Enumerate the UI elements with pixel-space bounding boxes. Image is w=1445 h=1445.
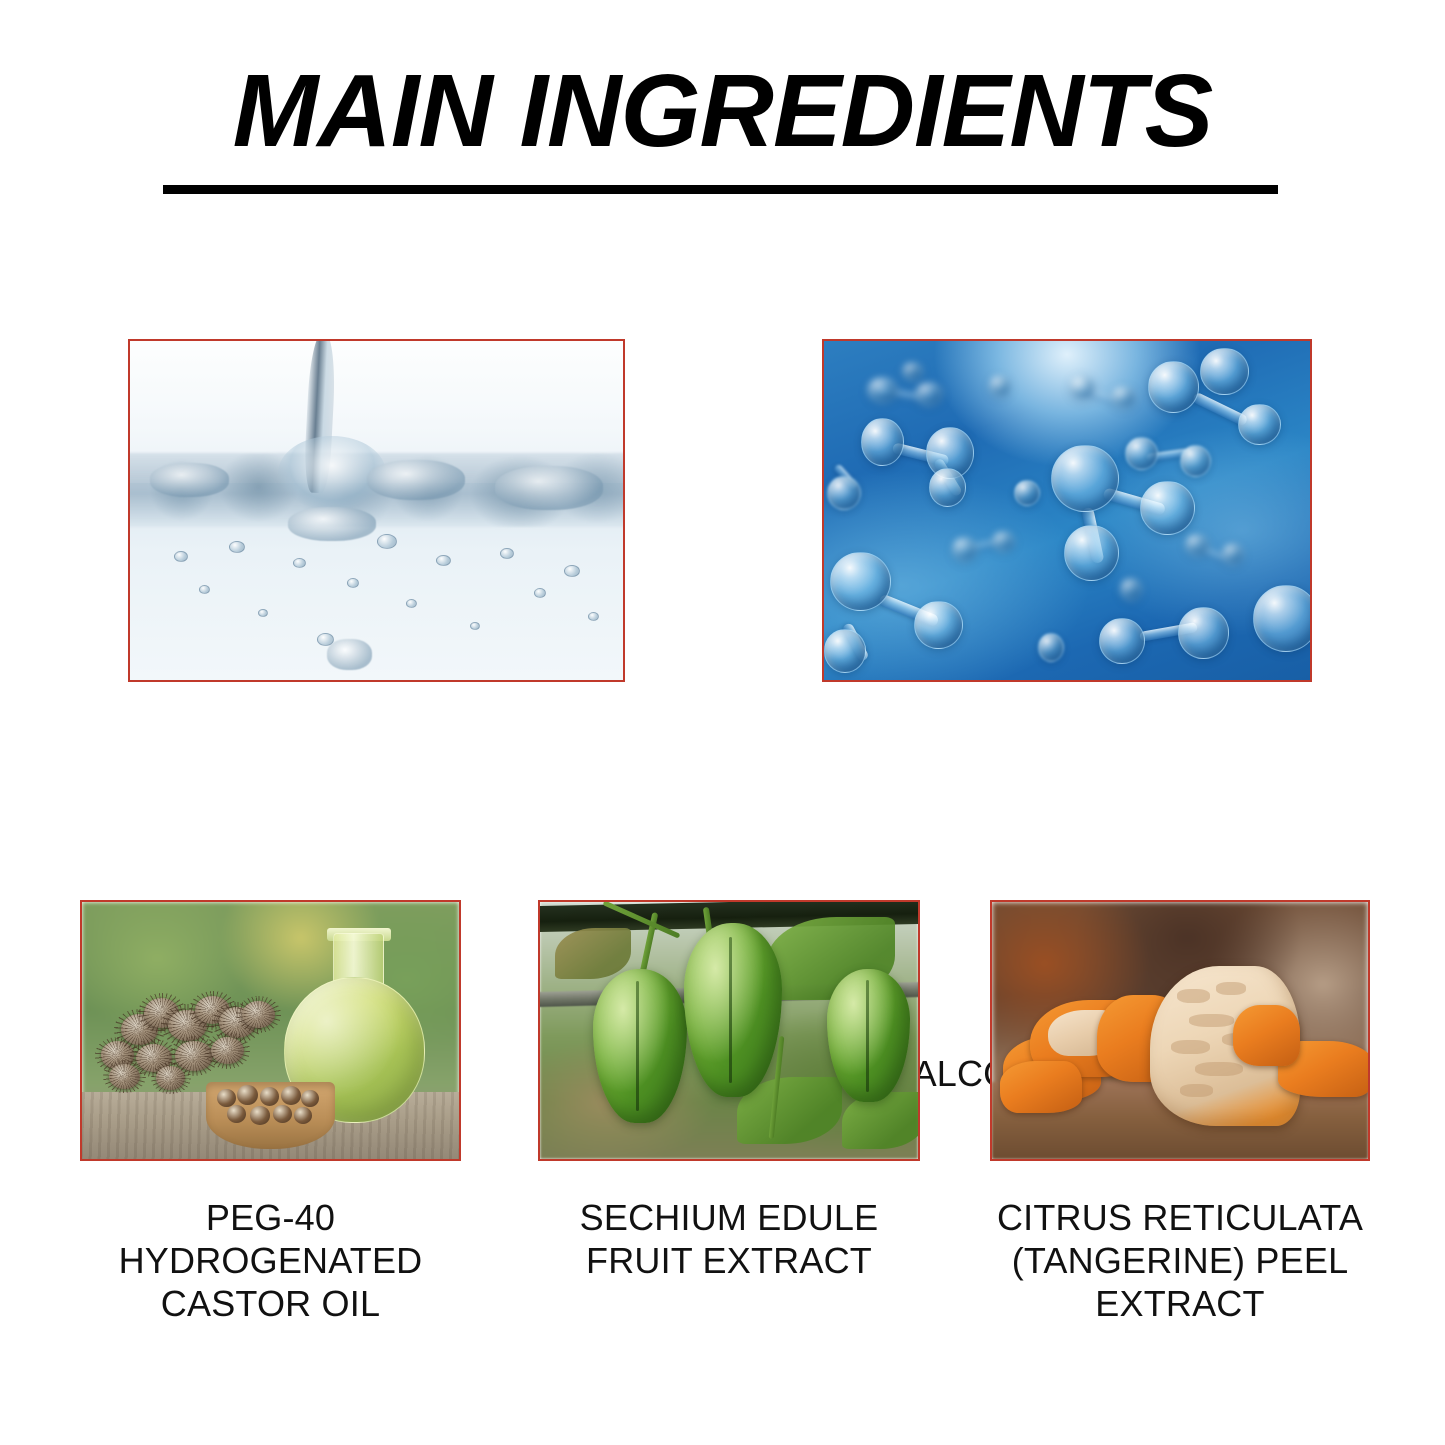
ingredient-card-peg-40-hydrogenated-castor-oil: PEG-40 HYDROGENATED CASTOR OIL xyxy=(80,900,461,1161)
water-bubble xyxy=(406,599,417,608)
ingredient-card-sechium-edule-fruit-extract: SECHIUM EDULE FRUIT EXTRACT xyxy=(538,900,920,1161)
water-bubble xyxy=(436,555,451,566)
molecule-cluster-main xyxy=(1038,436,1203,585)
castor-seed-bowl xyxy=(206,1082,334,1149)
tangerine-peel-photo xyxy=(990,900,1370,1161)
ingredient-caption-sechium-edule-fruit-extract: SECHIUM EDULE FRUIT EXTRACT xyxy=(514,1196,944,1282)
water-foam-cluster xyxy=(367,460,466,501)
water-bubble xyxy=(229,541,245,553)
molecule-render-photo xyxy=(822,339,1312,682)
tangerine-peel-piece xyxy=(1233,1005,1301,1067)
water-foam-cluster xyxy=(495,466,603,510)
castor-oil-photo xyxy=(80,900,461,1161)
tangerine-peel-piece xyxy=(1000,1061,1083,1112)
water-bubble xyxy=(564,565,580,577)
water-pouring-photo xyxy=(128,339,625,682)
molecule-cluster-main xyxy=(858,399,994,507)
molecule-cluster-far xyxy=(1067,365,1145,412)
ingredient-card-aqua: AQUA xyxy=(128,339,625,682)
water-foam-cluster xyxy=(288,507,377,541)
molecule-free-atom xyxy=(1014,480,1040,506)
molecule-free-atom xyxy=(989,375,1010,397)
molecule-cluster-main xyxy=(824,544,980,673)
molecule-cluster-main xyxy=(1242,565,1310,680)
ingredient-card-alcohol-denat: ALCOHOL DENAT. xyxy=(822,339,1312,682)
ingredient-caption-citrus-reticulata-tangerine-peel-extract: CITRUS RETICULATA (TANGERINE) PEEL EXTRA… xyxy=(965,1196,1395,1325)
molecule-cluster-main xyxy=(1145,348,1291,456)
title-block: MAIN INGREDIENTS xyxy=(0,58,1445,163)
title-underline-rule xyxy=(163,185,1278,194)
chayote-fruit-photo xyxy=(538,900,920,1161)
molecule-cluster-main xyxy=(1096,599,1242,680)
molecule-free-atom xyxy=(1120,578,1141,600)
ingredient-card-citrus-reticulata-tangerine-peel-extract: CITRUS RETICULATA (TANGERINE) PEEL EXTRA… xyxy=(990,900,1370,1161)
water-bubble xyxy=(258,609,268,617)
page-title: MAIN INGREDIENTS xyxy=(0,58,1445,163)
ingredient-caption-peg-40-hydrogenated-castor-oil: PEG-40 HYDROGENATED CASTOR OIL xyxy=(56,1196,486,1325)
molecule-free-atom xyxy=(1038,633,1064,662)
chayote-leaf xyxy=(842,1092,918,1149)
water-bubble-burst xyxy=(327,639,371,670)
water-bubble xyxy=(377,534,397,549)
water-bubble xyxy=(293,558,306,568)
water-foam-cluster xyxy=(150,463,229,497)
water-bubble xyxy=(500,548,514,559)
